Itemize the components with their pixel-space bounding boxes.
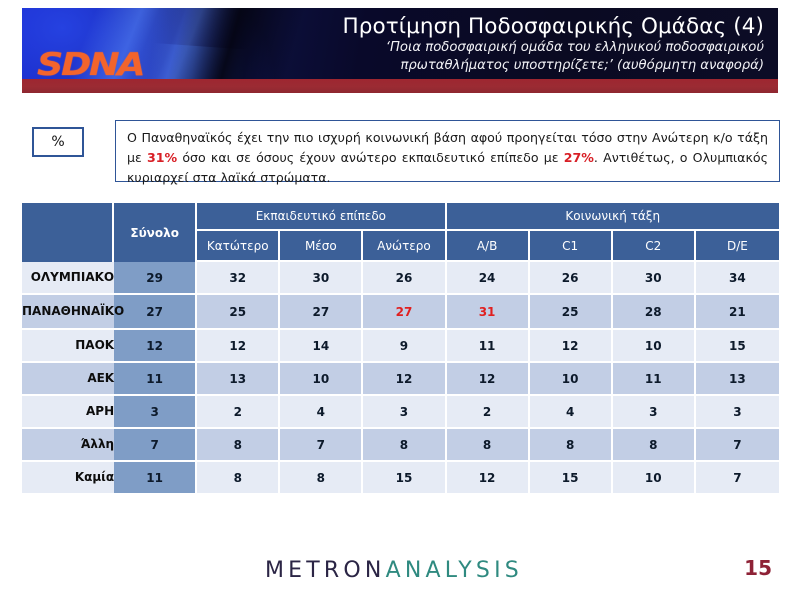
table-row: ΟΛΥΜΠΙΑΚΟ2932302624263034 (22, 262, 779, 295)
table-cell: 13 (696, 363, 779, 396)
row-label: ΠΑΝΑΘΗΝΑΪΚΟ (22, 295, 114, 330)
table-cell: 12 (197, 330, 280, 363)
header-col-meso: Μέσο (280, 231, 363, 262)
row-label: Καμία (22, 462, 114, 495)
header-col-de: D/E (696, 231, 779, 262)
commentary-box: Ο Παναθηναϊκός έχει την πιο ισχυρή κοινω… (115, 120, 780, 182)
table-cell: 26 (530, 262, 613, 295)
header-group-education: Εκπαιδευτικό επίπεδο (197, 203, 446, 231)
cell-total: 11 (114, 462, 197, 495)
header-group-social-class: Κοινωνική τάξη (447, 203, 779, 231)
table-cell: 30 (613, 262, 696, 295)
table-cell: 15 (530, 462, 613, 495)
table-cell: 8 (530, 429, 613, 462)
table-cell: 10 (613, 462, 696, 495)
commentary-highlight-31: 31% (147, 150, 177, 165)
page-title: Προτίμηση Ποδοσφαιρικής Ομάδας (4) (244, 14, 764, 39)
table-cell: 12 (363, 363, 446, 396)
header-row-label-blank (22, 231, 114, 262)
table-cell: 12 (447, 462, 530, 495)
page-number: 15 (744, 556, 772, 580)
table-cell: 3 (696, 396, 779, 429)
table-cell: 3 (363, 396, 446, 429)
slide-header-banner: SDNA Προτίμηση Ποδοσφαιρικής Ομάδας (4) … (22, 8, 778, 93)
banner-red-stripe (22, 79, 778, 93)
header-col-anotero: Ανώτερο (363, 231, 446, 262)
commentary-text: Ο Παναθηναϊκός έχει την πιο ισχυρή κοινω… (127, 128, 768, 188)
table-cell: 3 (613, 396, 696, 429)
table-cell: 15 (696, 330, 779, 363)
table-cell: 13 (197, 363, 280, 396)
banner-subtitle-line-1: ‘Ποια ποδοσφαιρική ομάδα του ελληνικού π… (244, 39, 764, 57)
table-cell: 27 (280, 295, 363, 330)
table-cell: 10 (530, 363, 613, 396)
table-cell: 12 (447, 363, 530, 396)
table-cell: 8 (197, 429, 280, 462)
table-cell: 25 (197, 295, 280, 330)
banner-title-block: Προτίμηση Ποδοσφαιρικής Ομάδας (4) ‘Ποια… (244, 14, 764, 75)
table-cell: 8 (613, 429, 696, 462)
metron-analysis-logo: METRONANALYSIS (265, 558, 523, 583)
percent-badge: % (32, 127, 84, 157)
table-cell: 2 (197, 396, 280, 429)
table-cell: 8 (197, 462, 280, 495)
cell-total: 12 (114, 330, 197, 363)
table-cell: 21 (696, 295, 779, 330)
table-cell: 12 (530, 330, 613, 363)
logo-analysis: ANALYSIS (386, 558, 523, 583)
table-row: ΠΑΝΑΘΗΝΑΪΚΟ2725272731252821 (22, 295, 779, 330)
table-cell: 8 (280, 462, 363, 495)
row-label: ΑΡΗ (22, 396, 114, 429)
row-label: ΟΛΥΜΠΙΑΚΟ (22, 262, 114, 295)
table-body: ΟΛΥΜΠΙΑΚΟ2932302624263034ΠΑΝΑΘΗΝΑΪΚΟ2725… (22, 262, 779, 495)
row-label: Άλλη (22, 429, 114, 462)
table-row: ΑΕΚ1113101212101113 (22, 363, 779, 396)
table-row: ΑΡΗ32432433 (22, 396, 779, 429)
cell-total: 27 (114, 295, 197, 330)
header-col-ab: A/B (447, 231, 530, 262)
commentary-segment-2: όσο και σε όσους έχουν ανώτερο εκπαιδευτ… (177, 150, 564, 165)
table-cell: 27 (363, 295, 446, 330)
logo-metron: METRON (265, 558, 386, 583)
header-col-c1: C1 (530, 231, 613, 262)
sdna-logo: SDNA (37, 50, 143, 81)
table-cell: 30 (280, 262, 363, 295)
cell-total: 3 (114, 396, 197, 429)
table-cell: 7 (696, 462, 779, 495)
table-cell: 4 (530, 396, 613, 429)
commentary-highlight-27: 27% (564, 150, 594, 165)
results-table: Σύνολο Εκπαιδευτικό επίπεδο Κοινωνική τά… (22, 203, 779, 495)
table-row: Άλλη78788887 (22, 429, 779, 462)
table-cell: 7 (280, 429, 363, 462)
header-col-c2: C2 (613, 231, 696, 262)
table-cell: 11 (447, 330, 530, 363)
banner-subtitle-line-2: πρωταθλήματος υποστηρίζετε;’ (αυθόρμητη … (244, 57, 764, 75)
cell-total: 7 (114, 429, 197, 462)
table-cell: 4 (280, 396, 363, 429)
row-label: ΑΕΚ (22, 363, 114, 396)
table-group-header-row: Σύνολο Εκπαιδευτικό επίπεδο Κοινωνική τά… (22, 203, 779, 231)
table-header: Σύνολο Εκπαιδευτικό επίπεδο Κοινωνική τά… (22, 203, 779, 262)
table-row: Καμία1188151215107 (22, 462, 779, 495)
table-cell: 31 (447, 295, 530, 330)
table-cell: 15 (363, 462, 446, 495)
table-cell: 9 (363, 330, 446, 363)
table-cell: 8 (363, 429, 446, 462)
table-cell: 8 (447, 429, 530, 462)
table-cell: 28 (613, 295, 696, 330)
table-cell: 7 (696, 429, 779, 462)
cell-total: 11 (114, 363, 197, 396)
table-cell: 11 (613, 363, 696, 396)
table-cell: 32 (197, 262, 280, 295)
header-total: Σύνολο (114, 203, 197, 262)
header-col-katotero: Κατώτερο (197, 231, 280, 262)
table-cell: 25 (530, 295, 613, 330)
cell-total: 29 (114, 262, 197, 295)
header-corner-blank (22, 203, 114, 231)
table-cell: 10 (280, 363, 363, 396)
table-cell: 24 (447, 262, 530, 295)
table-cell: 2 (447, 396, 530, 429)
table-cell: 26 (363, 262, 446, 295)
table-cell: 10 (613, 330, 696, 363)
row-label: ΠΑΟΚ (22, 330, 114, 363)
table-cell: 14 (280, 330, 363, 363)
table-cell: 34 (696, 262, 779, 295)
table-row: ΠΑΟΚ121214911121015 (22, 330, 779, 363)
